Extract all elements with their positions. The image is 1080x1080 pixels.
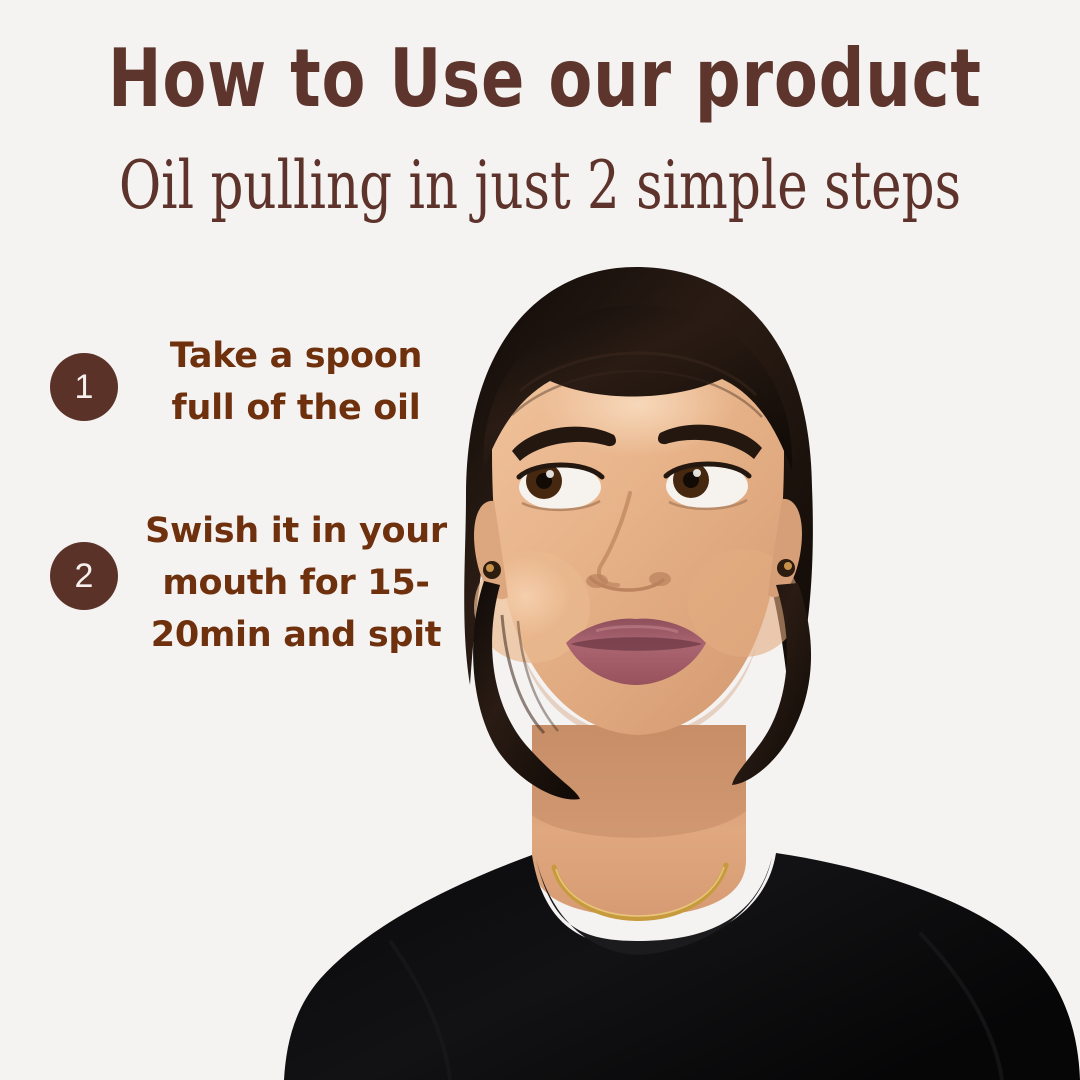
portrait-photo bbox=[270, 255, 1080, 1080]
page-subtitle: Oil pulling in just 2 simple steps bbox=[119, 148, 961, 224]
page-title: How to Use our product bbox=[108, 36, 972, 122]
poster-canvas: How to Use our product Oil pulling in ju… bbox=[0, 0, 1080, 1080]
step-number-badge-1: 1 bbox=[50, 353, 118, 421]
step-number-badge-2: 2 bbox=[50, 542, 118, 610]
portrait-illustration bbox=[270, 255, 1080, 1080]
